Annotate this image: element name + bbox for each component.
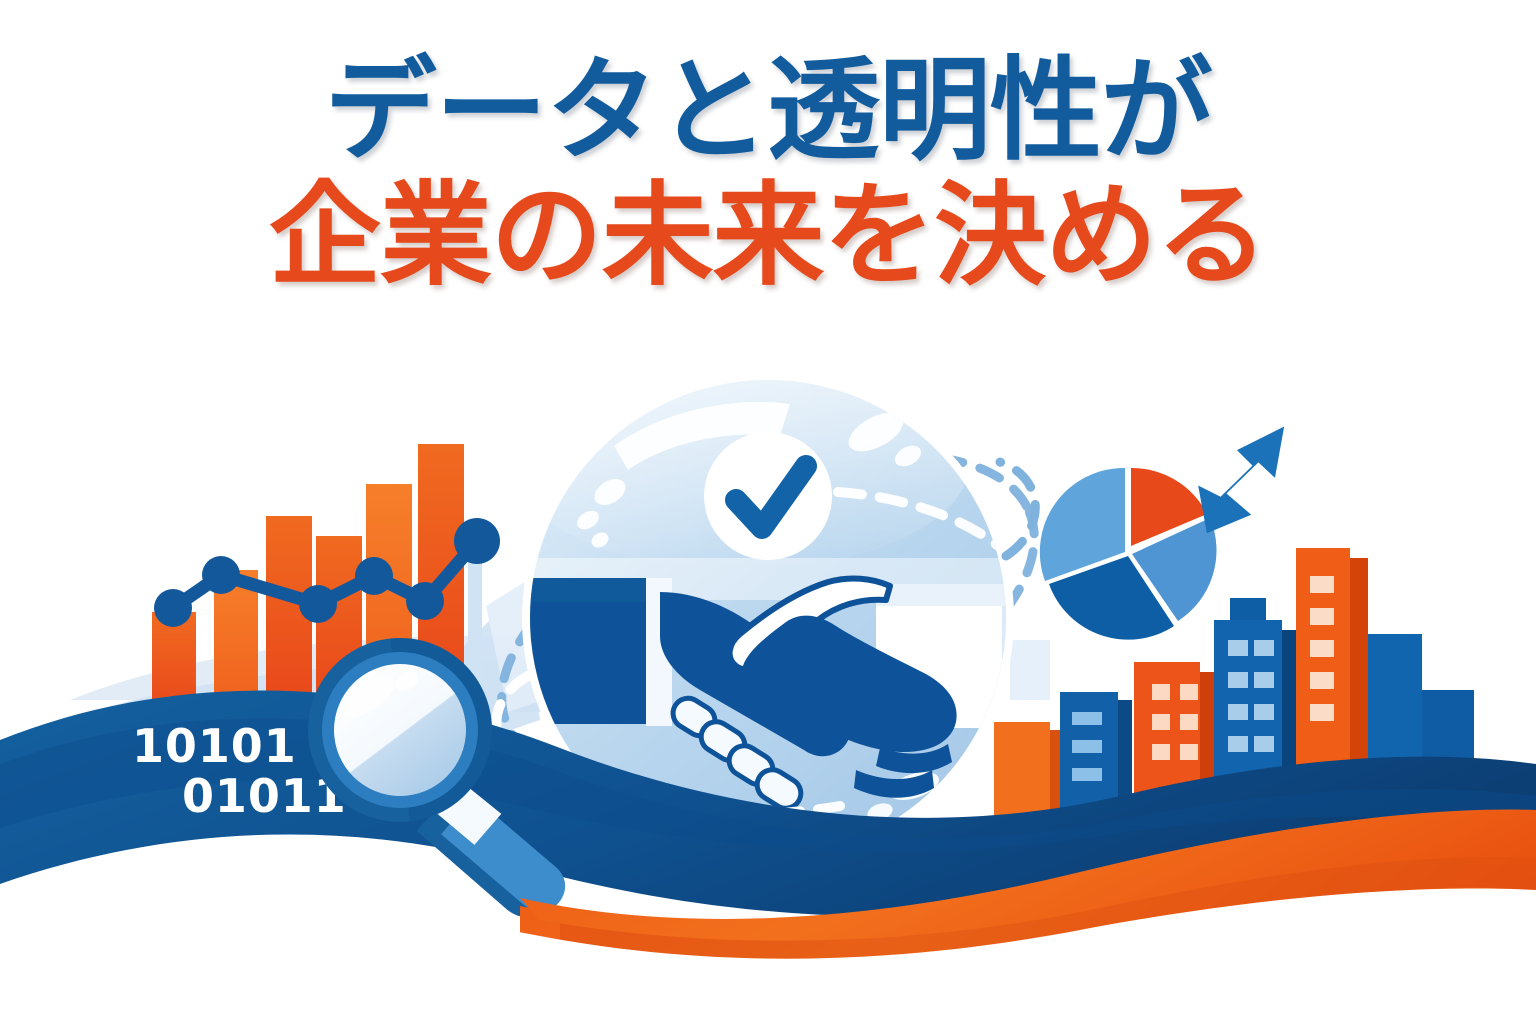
check-badge-group — [704, 432, 832, 560]
pie-chart-group — [1040, 468, 1217, 640]
hero-banner: 10101 01011 — [0, 0, 1536, 1024]
illustration-artwork: 10101 01011 — [0, 0, 1536, 1024]
growth-arrow-group — [1196, 426, 1288, 533]
binary-line-1: 10101 — [132, 719, 297, 773]
